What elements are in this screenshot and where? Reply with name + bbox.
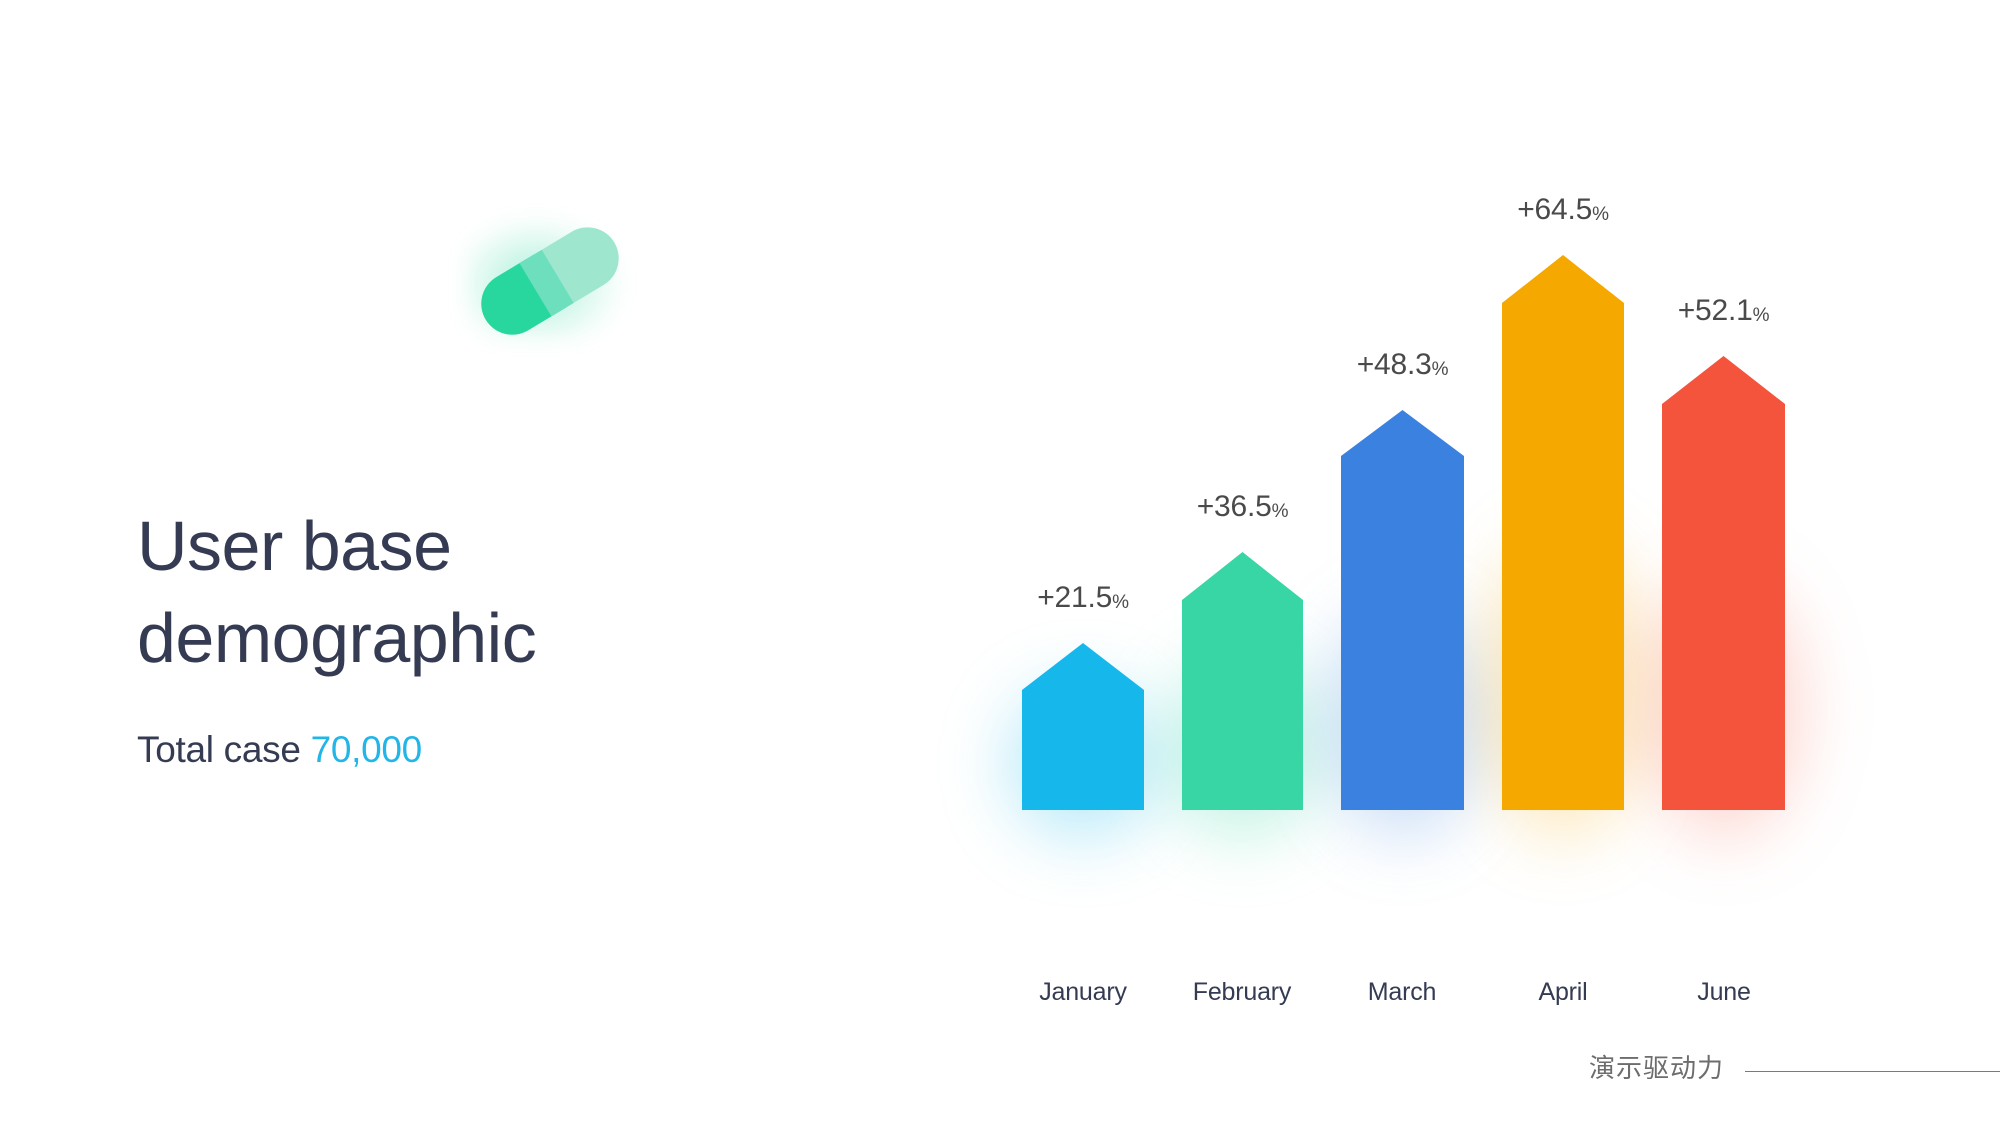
- bar-label-march: March: [1368, 978, 1436, 1007]
- bar-label-april: April: [1538, 978, 1587, 1007]
- capsule-pill-icon: [455, 205, 645, 355]
- headline-block: User base demographic Total case 70,000: [137, 500, 837, 771]
- chart-plot-area: +21.5% January +36.5% February: [960, 120, 1940, 910]
- bar-group-march[interactable]: +48.3%: [1341, 410, 1464, 810]
- bar-value-text: +48.3: [1357, 348, 1432, 381]
- subtitle-label: Total case: [137, 729, 311, 770]
- bar-label-february: February: [1193, 978, 1291, 1007]
- bar-shape-june[interactable]: [1662, 356, 1785, 810]
- footer: 演示驱动力: [0, 1048, 2000, 1098]
- bar-label-june: June: [1697, 978, 1750, 1007]
- bar-value-suffix: %: [1432, 359, 1449, 380]
- bar-value-text: +36.5: [1197, 490, 1272, 523]
- footer-divider: [1745, 1071, 2000, 1072]
- page-title: User base demographic: [137, 500, 837, 685]
- bar-group-april[interactable]: +64.5%: [1502, 255, 1624, 810]
- bar-group-june[interactable]: +52.1%: [1662, 356, 1785, 810]
- bar-value-suffix: %: [1112, 592, 1129, 613]
- footer-brand: 演示驱动力: [1589, 1048, 1724, 1085]
- bar-shape-april[interactable]: [1502, 255, 1624, 810]
- bar-group-february[interactable]: +36.5%: [1182, 552, 1303, 810]
- bar-value-text: +52.1: [1678, 294, 1753, 327]
- bar-value-january: +21.5%: [1037, 581, 1129, 615]
- bar-value-suffix: %: [1753, 305, 1770, 326]
- bar-value-february: +36.5%: [1197, 490, 1289, 524]
- capsule-decoration: [455, 205, 645, 355]
- bar-shape-january[interactable]: [1022, 643, 1144, 810]
- bar-shape-march[interactable]: [1341, 410, 1464, 810]
- bar-value-march: +48.3%: [1357, 348, 1449, 382]
- subtitle: Total case 70,000: [137, 729, 837, 771]
- bar-value-april: +64.5%: [1517, 193, 1609, 227]
- bar-shape-february[interactable]: [1182, 552, 1303, 810]
- bar-value-text: +64.5: [1517, 193, 1592, 226]
- bar-value-june: +52.1%: [1678, 294, 1770, 328]
- bar-value-suffix: %: [1592, 204, 1609, 225]
- bar-value-text: +21.5: [1037, 581, 1112, 614]
- bar-chart: +21.5% January +36.5% February: [960, 120, 1940, 910]
- bar-label-january: January: [1039, 978, 1127, 1007]
- total-case-value: 70,000: [311, 729, 422, 770]
- bar-value-suffix: %: [1272, 501, 1289, 522]
- slide-canvas: User base demographic Total case 70,000: [0, 0, 2000, 1125]
- bar-group-january[interactable]: +21.5%: [1022, 643, 1144, 810]
